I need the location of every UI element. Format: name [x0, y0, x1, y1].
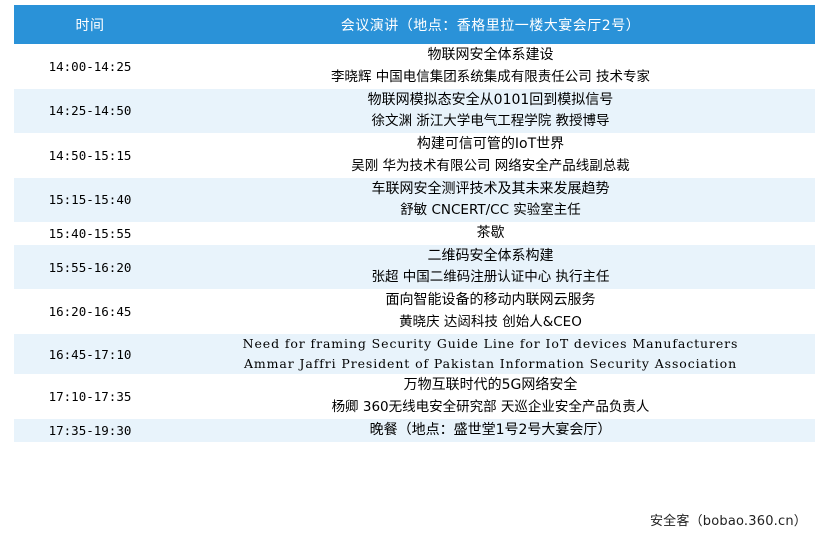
session-title: 茶歇 [166, 222, 815, 245]
session-title: 万物互联时代的5G网络安全 [166, 374, 815, 397]
session-time: 16:45-17:10 [14, 334, 166, 375]
session-topic-cell: 面向智能设备的移动内联网云服务黄晓庆 达闼科技 创始人&CEO [166, 289, 815, 334]
session-topic-cell: Need for framing Security Guide Line for… [166, 334, 815, 375]
session-topic-cell: 构建可信可管的IoT世界吴刚 华为技术有限公司 网络安全产品线副总裁 [166, 133, 815, 178]
session-title: 物联网安全体系建设 [166, 44, 815, 67]
session-speaker: 吴刚 华为技术有限公司 网络安全产品线副总裁 [166, 156, 815, 178]
table-row: 17:10-17:35万物互联时代的5G网络安全杨卿 360无线电安全研究部 天… [14, 374, 815, 419]
table-header-row: 时间 会议演讲（地点：香格里拉一楼大宴会厅2号） [14, 5, 815, 44]
agenda-page: 时间 会议演讲（地点：香格里拉一楼大宴会厅2号） 14:00-14:25物联网安… [0, 0, 829, 535]
table-row: 15:55-16:20二维码安全体系构建张超 中国二维码注册认证中心 执行主任 [14, 245, 815, 290]
session-title: 面向智能设备的移动内联网云服务 [166, 289, 815, 312]
session-time: 14:25-14:50 [14, 89, 166, 134]
table-row: 16:20-16:45面向智能设备的移动内联网云服务黄晓庆 达闼科技 创始人&C… [14, 289, 815, 334]
table-row: 17:35-19:30晚餐（地点：盛世堂1号2号大宴会厅） [14, 419, 815, 442]
session-speaker: 张超 中国二维码注册认证中心 执行主任 [166, 267, 815, 289]
session-speaker: Ammar Jaffri President of Pakistan Infor… [166, 354, 815, 374]
table-row: 14:25-14:50物联网模拟态安全从0101回到模拟信号徐文渊 浙江大学电气… [14, 89, 815, 134]
session-title: 二维码安全体系构建 [166, 245, 815, 268]
table-row: 15:15-15:40车联网安全测评技术及其未来发展趋势舒敏 CNCERT/CC… [14, 178, 815, 223]
table-row: 16:45-17:10Need for framing Security Gui… [14, 334, 815, 375]
session-topic-cell: 晚餐（地点：盛世堂1号2号大宴会厅） [166, 419, 815, 442]
session-title: 车联网安全测评技术及其未来发展趋势 [166, 178, 815, 201]
session-title: Need for framing Security Guide Line for… [166, 334, 815, 354]
session-title: 物联网模拟态安全从0101回到模拟信号 [166, 89, 815, 112]
session-time: 14:50-15:15 [14, 133, 166, 178]
watermark-label: 安全客（bobao.360.cn） [650, 510, 807, 529]
table-row: 14:00-14:25物联网安全体系建设李晓辉 中国电信集团系统集成有限责任公司… [14, 44, 815, 89]
column-header-topic: 会议演讲（地点：香格里拉一楼大宴会厅2号） [166, 5, 815, 44]
session-speaker: 徐文渊 浙江大学电气工程学院 教授博导 [166, 111, 815, 133]
session-speaker: 黄晓庆 达闼科技 创始人&CEO [166, 312, 815, 334]
table-row: 15:40-15:55茶歇 [14, 222, 815, 245]
session-speaker: 杨卿 360无线电安全研究部 天巡企业安全产品负责人 [166, 397, 815, 419]
session-time: 16:20-16:45 [14, 289, 166, 334]
session-topic-cell: 二维码安全体系构建张超 中国二维码注册认证中心 执行主任 [166, 245, 815, 290]
session-topic-cell: 物联网安全体系建设李晓辉 中国电信集团系统集成有限责任公司 技术专家 [166, 44, 815, 89]
session-topic-cell: 万物互联时代的5G网络安全杨卿 360无线电安全研究部 天巡企业安全产品负责人 [166, 374, 815, 419]
session-time: 15:40-15:55 [14, 222, 166, 245]
session-time: 14:00-14:25 [14, 44, 166, 89]
session-title: 构建可信可管的IoT世界 [166, 133, 815, 156]
session-time: 17:35-19:30 [14, 419, 166, 442]
session-time: 15:55-16:20 [14, 245, 166, 290]
session-time: 17:10-17:35 [14, 374, 166, 419]
session-speaker: 李晓辉 中国电信集团系统集成有限责任公司 技术专家 [166, 67, 815, 89]
session-speaker: 舒敏 CNCERT/CC 实验室主任 [166, 200, 815, 222]
table-body: 14:00-14:25物联网安全体系建设李晓辉 中国电信集团系统集成有限责任公司… [14, 44, 815, 442]
session-topic-cell: 茶歇 [166, 222, 815, 245]
session-topic-cell: 物联网模拟态安全从0101回到模拟信号徐文渊 浙江大学电气工程学院 教授博导 [166, 89, 815, 134]
column-header-time: 时间 [14, 5, 166, 44]
table-row: 14:50-15:15构建可信可管的IoT世界吴刚 华为技术有限公司 网络安全产… [14, 133, 815, 178]
session-time: 15:15-15:40 [14, 178, 166, 223]
session-topic-cell: 车联网安全测评技术及其未来发展趋势舒敏 CNCERT/CC 实验室主任 [166, 178, 815, 223]
session-title: 晚餐（地点：盛世堂1号2号大宴会厅） [166, 419, 815, 442]
conference-schedule-table: 时间 会议演讲（地点：香格里拉一楼大宴会厅2号） 14:00-14:25物联网安… [14, 5, 815, 442]
